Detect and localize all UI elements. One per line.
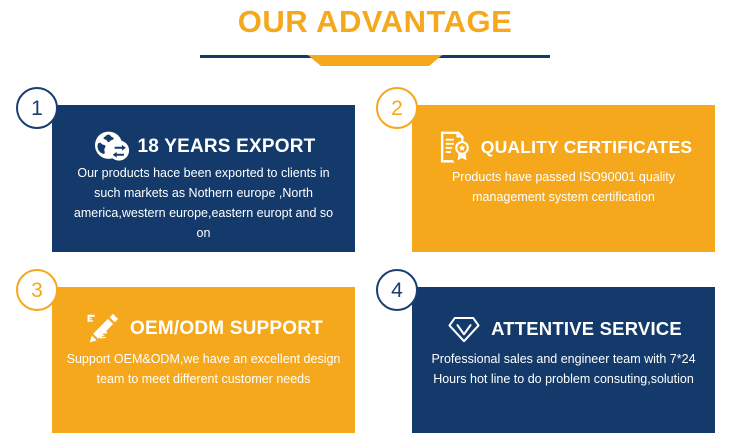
card-4-body: Professional sales and engineer team wit…	[426, 349, 701, 389]
card-4-title: ATTENTIVE SERVICE	[491, 318, 682, 340]
card-3-number-badge: 3	[16, 269, 58, 311]
page-title: OUR ADVANTAGE	[0, 2, 750, 42]
pencil-design-icon	[84, 310, 122, 348]
card-3-title: OEM/ODM SUPPORT	[130, 318, 323, 340]
card-3-body: Support OEM&ODM,we have an excellent des…	[66, 349, 341, 389]
card-4-number-badge: 4	[376, 269, 418, 311]
card-2-title: QUALITY CERTIFICATES	[481, 137, 692, 158]
advantage-card-3[interactable]: OEM/ODM SUPPORT Support OEM&ODM,we have …	[52, 287, 355, 433]
diamond-check-icon	[445, 310, 483, 348]
advantage-card-1[interactable]: 18 YEARS EXPORT Our products hace been e…	[52, 105, 355, 252]
card-4-header: ATTENTIVE SERVICE	[412, 309, 715, 349]
card-2-number-badge: 2	[376, 87, 418, 129]
card-1-body: Our products hace been exported to clien…	[70, 163, 337, 243]
advantage-section: OUR ADVANTAGE 18 YEARS EXPORT Our produc…	[0, 0, 750, 445]
certificate-icon	[435, 128, 473, 166]
card-2-body: Products have passed ISO90001 quality ma…	[426, 167, 701, 207]
advantage-card-2[interactable]: QUALITY CERTIFICATES Products have passe…	[412, 105, 715, 252]
title-divider	[200, 50, 550, 68]
card-2-header: QUALITY CERTIFICATES	[412, 127, 715, 167]
card-3-header: OEM/ODM SUPPORT	[52, 309, 355, 349]
card-1-header: 18 YEARS EXPORT	[52, 127, 355, 167]
globe-export-icon	[92, 128, 130, 166]
advantage-card-4[interactable]: ATTENTIVE SERVICE Professional sales and…	[412, 287, 715, 433]
card-1-title: 18 YEARS EXPORT	[138, 136, 316, 158]
divider-wedge-icon	[293, 55, 457, 66]
card-1-number-badge: 1	[16, 87, 58, 129]
